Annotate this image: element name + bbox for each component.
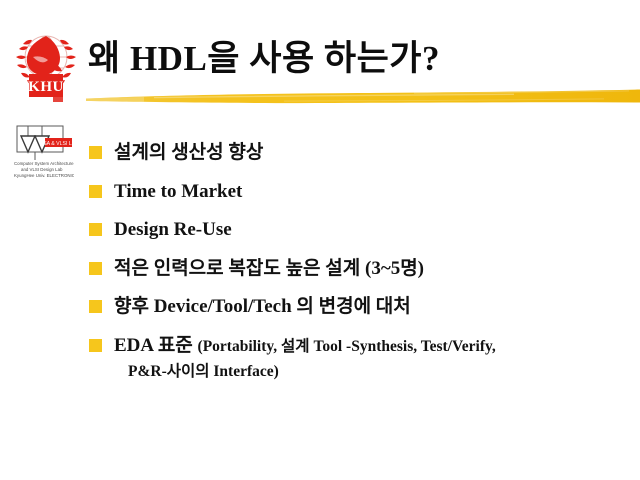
lab-logo: CSA & VLSI Lab Computer System Architect…: [12, 122, 74, 182]
square-bullet-icon: [89, 223, 102, 236]
khu-logo: KHU: [9, 27, 83, 103]
bullet-text: Time to Market: [114, 178, 619, 206]
square-bullet-icon: [89, 300, 102, 313]
bullet-list: 설계의 생산성 향상 Time to Market Design Re-Use …: [89, 139, 619, 393]
slide-canvas: KHU CSA & VLSI Lab Computer System Archi…: [0, 0, 640, 480]
list-item: 설계의 생산성 향상: [89, 139, 619, 167]
bullet-text-continuation: P&R-사이의 Interface): [114, 361, 619, 383]
svg-text:Computer System Architecture: Computer System Architecture: [14, 161, 74, 166]
svg-text:KyungHee Univ. ELECTRONICS: KyungHee Univ. ELECTRONICS: [14, 173, 74, 178]
square-bullet-icon: [89, 339, 102, 352]
list-item: Time to Market: [89, 178, 619, 206]
square-bullet-icon: [89, 185, 102, 198]
bullet-text-multiline: EDA 표준 (Portability, 설계 Tool -Synthesis,…: [114, 332, 619, 384]
svg-text:CSA & VLSI Lab: CSA & VLSI Lab: [39, 141, 74, 147]
title-underline-brushstroke: [84, 86, 640, 112]
list-item: 적은 인력으로 복잡도 높은 설계 (3~5명): [89, 255, 619, 283]
square-bullet-icon: [89, 146, 102, 159]
bullet-text: 설계의 생산성 향상: [114, 139, 619, 167]
svg-text:KHU: KHU: [28, 79, 64, 95]
svg-text:and VLSI Design Lab: and VLSI Design Lab: [21, 167, 63, 172]
square-bullet-icon: [89, 262, 102, 275]
bullet-text: Design Re-Use: [114, 216, 619, 244]
list-item: 향후 Device/Tool/Tech 의 변경에 대처: [89, 293, 619, 321]
bullet-text: 적은 인력으로 복잡도 높은 설계 (3~5명): [114, 255, 619, 283]
page-title: 왜 HDL을 사용 하는가?: [88, 41, 440, 78]
bullet-text-main: EDA 표준: [114, 335, 198, 356]
list-item: Design Re-Use: [89, 216, 619, 244]
list-item: EDA 표준 (Portability, 설계 Tool -Synthesis,…: [89, 332, 619, 384]
bullet-text: 향후 Device/Tool/Tech 의 변경에 대처: [114, 293, 619, 321]
bullet-text-parenthetical: (Portability, 설계 Tool -Synthesis, Test/V…: [198, 338, 496, 355]
